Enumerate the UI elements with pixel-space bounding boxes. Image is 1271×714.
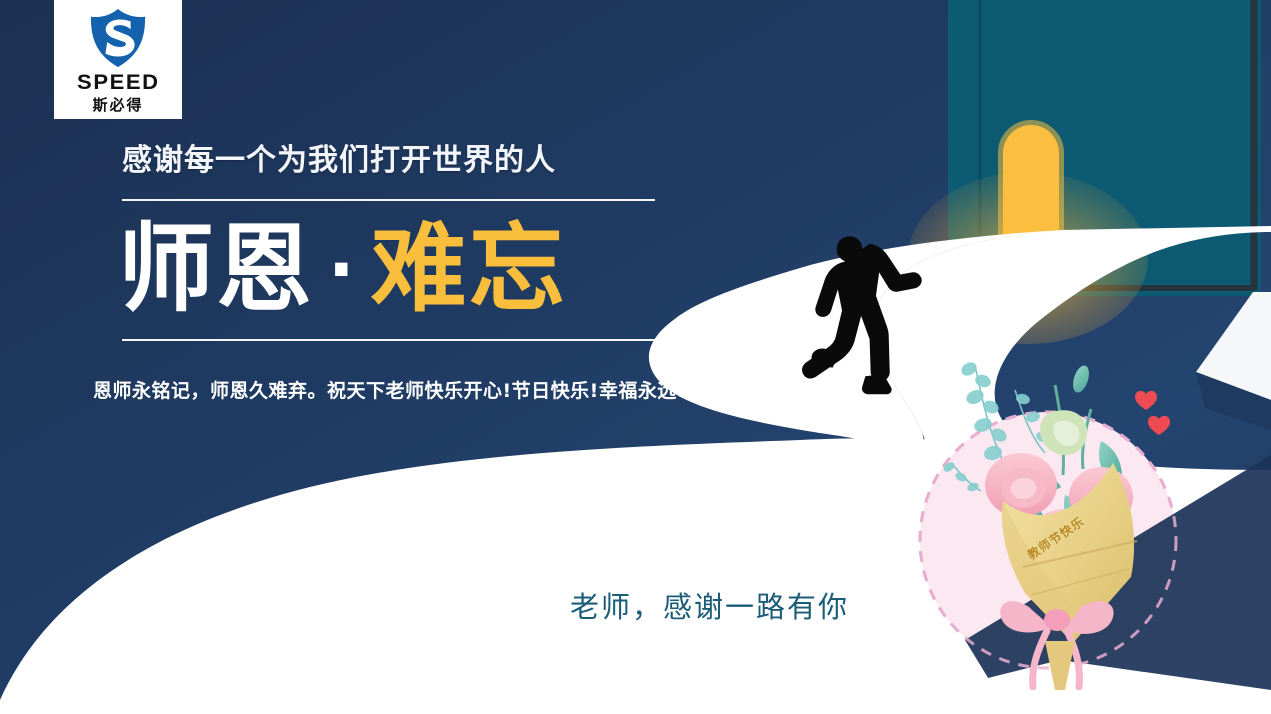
poster-tagline: 恩师永铭记，师恩久难弃。祝天下老师快乐开心!节日快乐!幸福永远! (93, 376, 686, 403)
rose-bloom (1040, 410, 1087, 455)
teachers-day-poster: 教师节快乐 SPEED 斯必得 感谢每一个为我们打开世界的人 师恩·难忘 恩师永… (0, 0, 1271, 714)
logo-wordmark: SPEED (77, 72, 160, 93)
poster-subtitle: 感谢每一个为我们打开世界的人 (122, 135, 556, 179)
title-part-white: 师恩 (118, 213, 314, 325)
logo-chinese-name: 斯必得 (92, 98, 143, 113)
speed-logo[interactable]: SPEED 斯必得 (54, 0, 182, 119)
shield-s-icon (87, 7, 149, 69)
divider-top (122, 199, 655, 201)
bouquet-stem (1045, 641, 1075, 690)
poster-footer-text: 老师，感谢一路有你 (570, 584, 849, 626)
divider-bottom (122, 339, 655, 341)
title-part-gold: 难忘 (371, 213, 567, 325)
title-separator: · (314, 229, 371, 311)
flower-bouquet (905, 345, 1195, 690)
rose-bloom (985, 453, 1057, 517)
poster-title: 师恩·难忘 (118, 210, 567, 329)
